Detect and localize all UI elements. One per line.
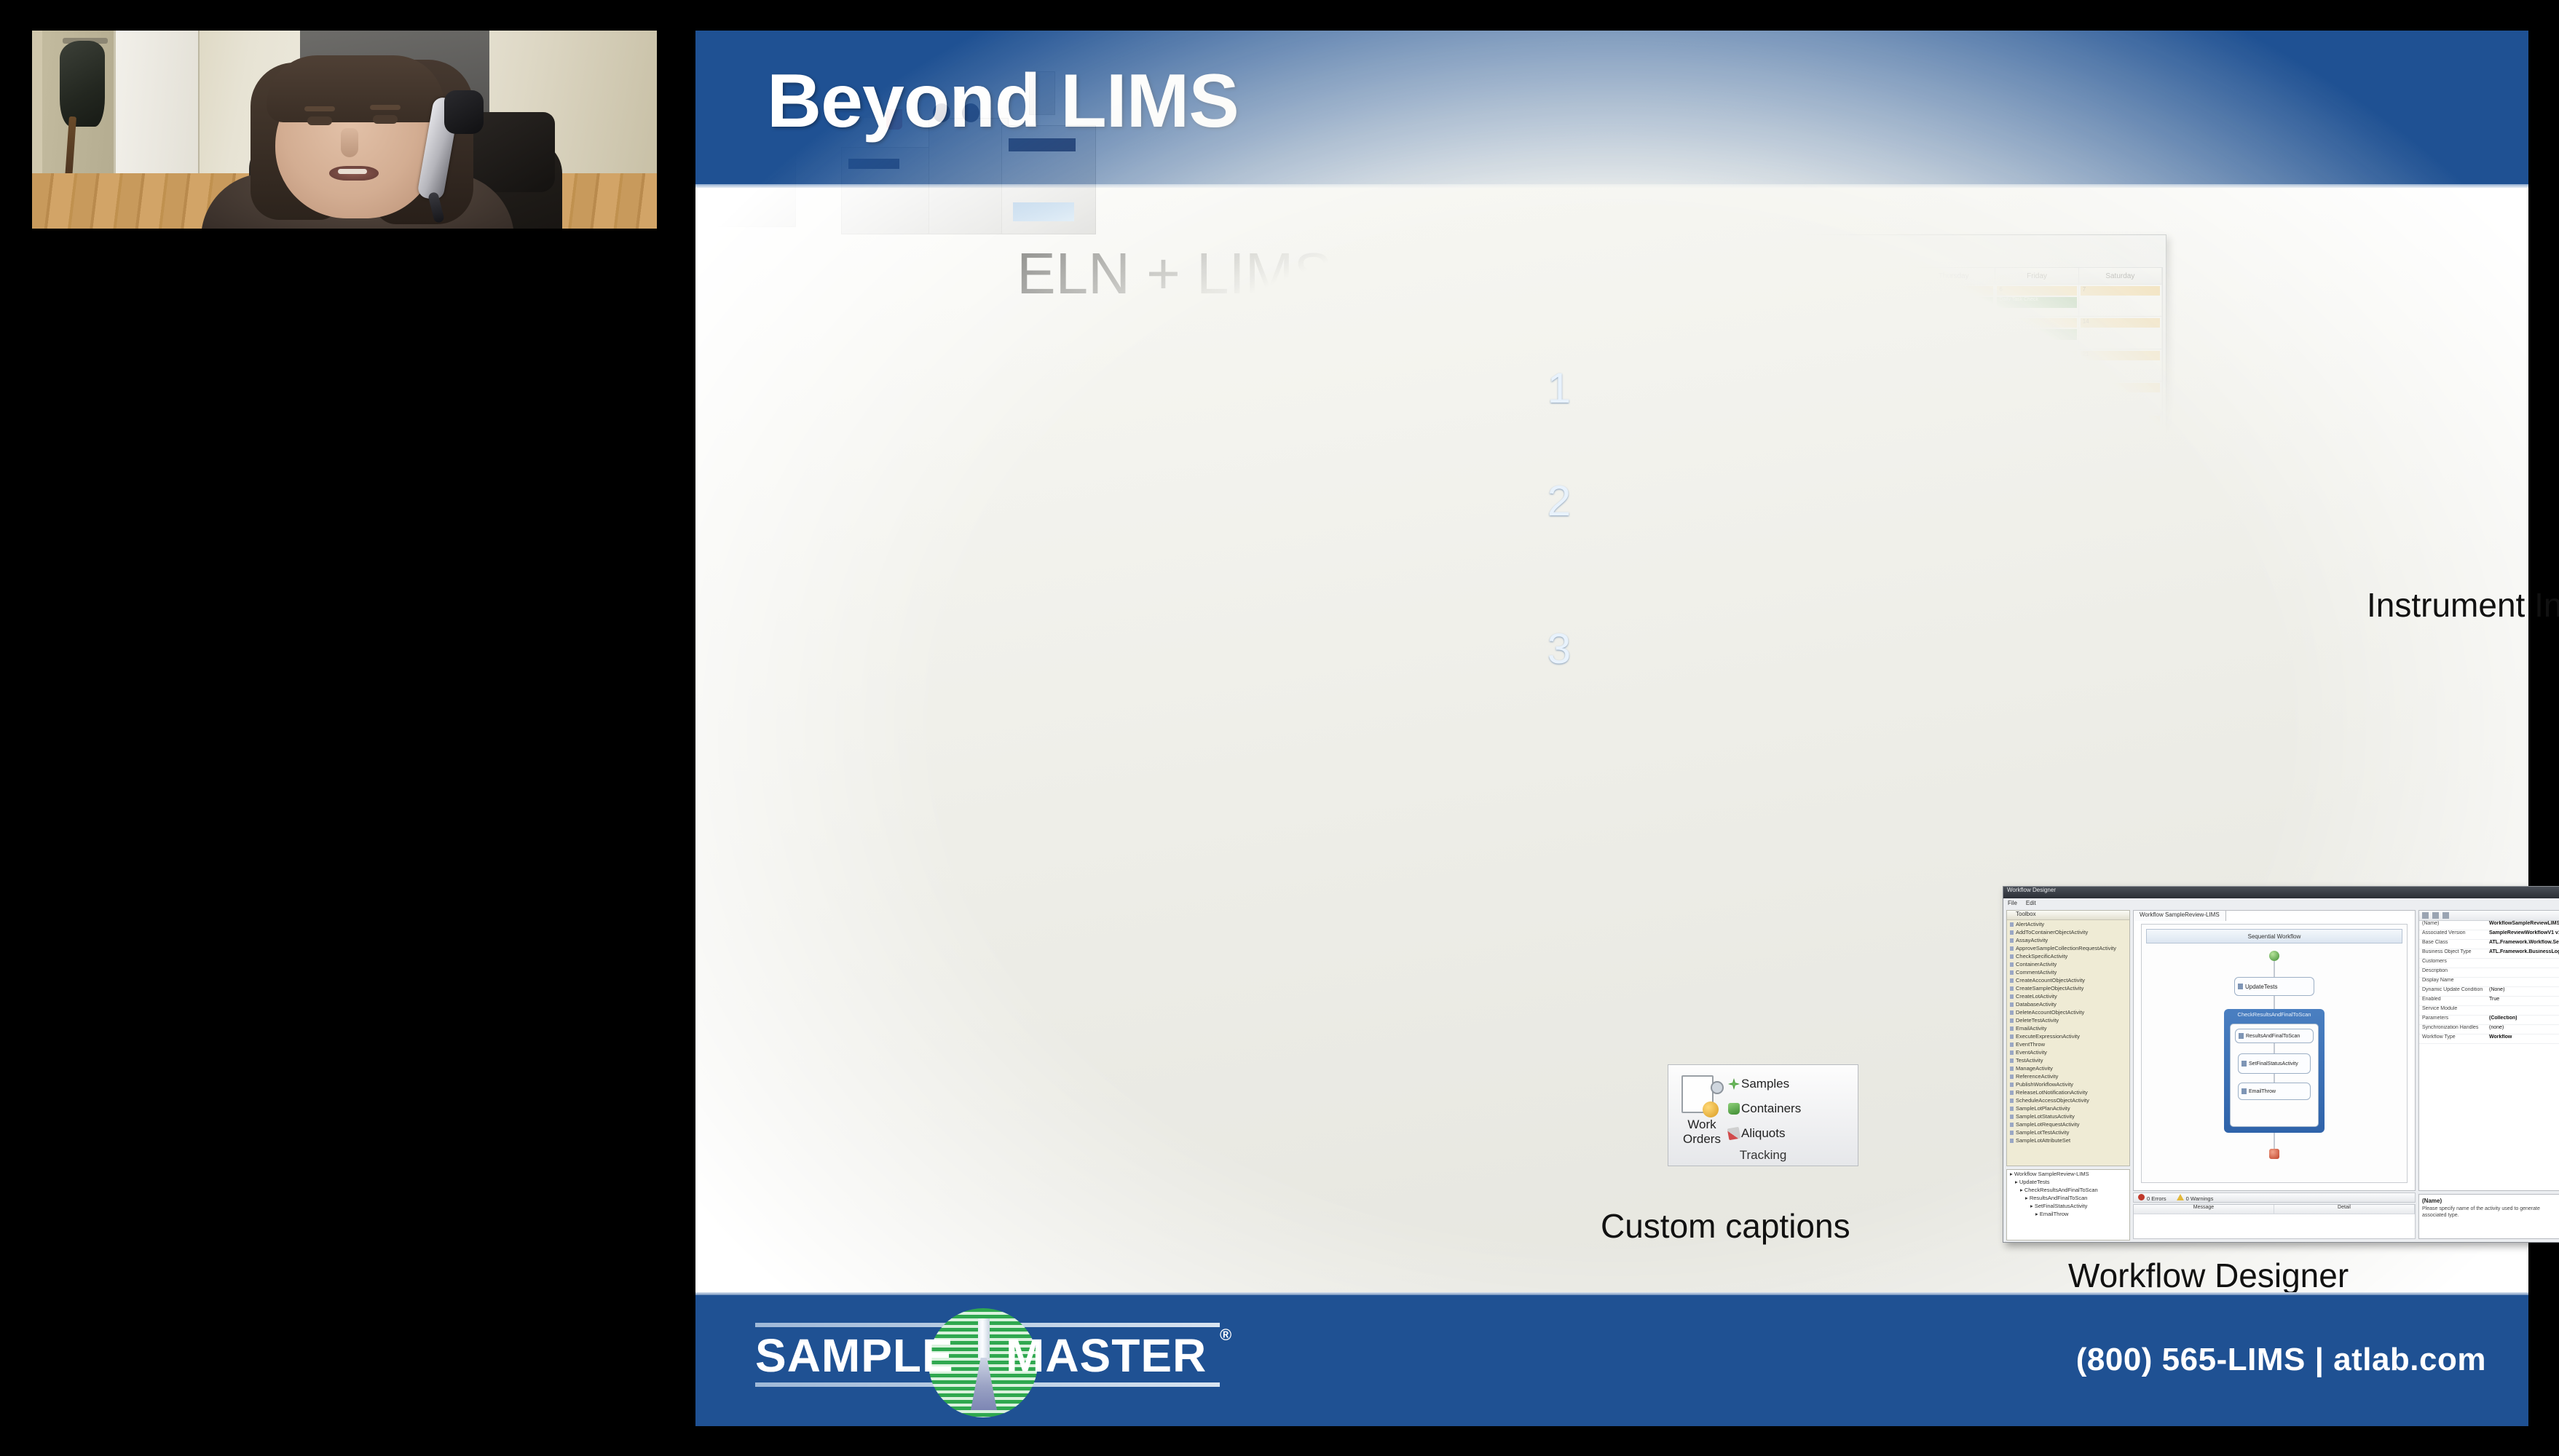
property-key: Workflow Type <box>2419 1034 2489 1043</box>
toolbox-item[interactable]: EmailActivity <box>2007 1024 2129 1032</box>
instrument-unit-mid <box>928 118 1009 234</box>
workflow-tree-item[interactable]: ▸ EmailThrow <box>2007 1210 2129 1218</box>
instrument-knob-left <box>933 103 950 122</box>
webcam-person-eye-right <box>373 115 398 124</box>
logo-flask-icon <box>971 1318 997 1410</box>
property-row[interactable]: Associated VersionSampleReviewWorkflowV1… <box>2419 930 2559 940</box>
logo-word-master: MASTER <box>1006 1329 1207 1382</box>
toolbox-item[interactable]: DatabaseActivity <box>2007 1000 2129 1008</box>
properties-toolbar[interactable] <box>2419 911 2559 921</box>
ribbon-item-aliquots[interactable]: Aliquots <box>1741 1126 1785 1141</box>
properties-icon[interactable] <box>2442 912 2449 919</box>
property-description-text: Please specify name of the activity used… <box>2422 1206 2559 1219</box>
webcam-person-eye-left <box>307 116 332 125</box>
property-value[interactable] <box>2489 959 2559 968</box>
property-key: Service Module <box>2419 1006 2489 1015</box>
caption-custom-captions: Custom captions <box>1601 1206 1850 1246</box>
workflow-menu-bar[interactable]: File Edit <box>2003 898 2559 908</box>
property-key: Enabled <box>2419 997 2489 1005</box>
menu-edit[interactable]: Edit <box>2026 900 2036 906</box>
property-row[interactable]: Synchronization Handles(none) <box>2419 1025 2559 1034</box>
toolbox-item[interactable]: ReleaseLotNotificationActivity <box>2007 1088 2129 1096</box>
workflow-status-bar[interactable]: 0 Errors 0 Warnings <box>2133 1192 2416 1203</box>
menu-file[interactable]: File <box>2008 900 2017 906</box>
property-row[interactable]: EnabledTrue <box>2419 997 2559 1006</box>
chevron-number-3: 3 <box>1504 625 1614 673</box>
webcam-person-eyebrow-left <box>304 106 335 111</box>
workflow-sequence-header: Sequential Workflow <box>2146 929 2402 943</box>
error-count[interactable]: 0 Errors <box>2138 1194 2166 1202</box>
property-key: Associated Version <box>2419 930 2489 939</box>
toolbox-item[interactable]: ContainerActivity <box>2007 960 2129 968</box>
workflow-node-set-final-status[interactable]: SetFinalStatusActivity <box>2238 1053 2311 1074</box>
property-row[interactable]: Base ClassATL.Framework.Workflow.Sequent… <box>2419 940 2559 949</box>
headset-earpiece-icon <box>444 90 484 134</box>
toolbox-item[interactable]: SampleLotRequestActivity <box>2007 1120 2129 1128</box>
footer-contact-info: (800) 565-LIMS | atlab.com <box>2076 1342 2486 1378</box>
workflow-canvas-area[interactable]: Sequential Workflow UpdateTests CheckRes… <box>2133 910 2416 1191</box>
workflow-tree-panel[interactable]: ▸ Workflow SampleReview-LIMS▸ UpdateTest… <box>2006 1169 2130 1241</box>
caption-instrument-integration: Instrument Integration <box>2367 585 2559 625</box>
instrument-unit-left <box>709 118 796 227</box>
property-key: Base Class <box>2419 940 2489 949</box>
property-description-title: (Name) <box>2422 1198 2559 1204</box>
toolbox-item[interactable]: CreateSampleObjectActivity <box>2007 984 2129 992</box>
workflow-tree-item[interactable]: ▸ SetFinalStatusActivity <box>2007 1202 2129 1210</box>
toolbox-item[interactable]: AssayActivity <box>2007 936 2129 944</box>
workflow-error-grid: Message Detail <box>2133 1204 2416 1239</box>
warning-count[interactable]: 0 Warnings <box>2177 1194 2214 1202</box>
property-row[interactable]: Service Module <box>2419 1006 2559 1016</box>
property-value[interactable]: Workflow <box>2489 1034 2559 1043</box>
toolbox-item[interactable]: SampleLotTestActivity <box>2007 1128 2129 1136</box>
work-orders-icon <box>1681 1075 1714 1113</box>
property-key: (Name) <box>2419 921 2489 930</box>
chevron-number-2: 2 <box>1504 477 1614 526</box>
property-rows[interactable]: (Name)WorkflowSampleReviewLIMSAssociated… <box>2419 921 2559 1044</box>
caption-workflow-designer: Workflow Designer <box>2068 1256 2349 1295</box>
property-row[interactable]: Business Object TypeATL.Framework.Busine… <box>2419 949 2559 959</box>
instrument-small-box <box>1029 71 1055 115</box>
property-row[interactable]: Workflow TypeWorkflow <box>2419 1034 2559 1044</box>
toolbox-header: Toolbox <box>2007 911 2129 920</box>
instrument-integration-photo <box>695 31 1103 242</box>
property-row[interactable]: Parameters(Collection) <box>2419 1016 2559 1025</box>
workflow-document-tab[interactable]: Workflow SampleReview-LIMS <box>2133 910 2226 921</box>
property-row[interactable]: (Name)WorkflowSampleReviewLIMS <box>2419 921 2559 930</box>
webcam-person-eyebrow-right <box>370 105 401 110</box>
property-value[interactable]: (none) <box>2489 1025 2559 1034</box>
workflow-node-check-results[interactable]: CheckResultsAndFinalToScan ResultsAndFin… <box>2224 1009 2325 1133</box>
workflow-canvas[interactable]: Sequential Workflow UpdateTests CheckRes… <box>2141 924 2408 1183</box>
error-icon <box>2138 1194 2145 1200</box>
toolbox-item[interactable]: PublishWorkflowActivity <box>2007 1080 2129 1088</box>
footer-top-edge <box>695 1292 2528 1295</box>
property-value[interactable]: ATL.Framework.BusinessLogic.Sample <box>2489 949 2559 958</box>
property-row[interactable]: Description <box>2419 968 2559 978</box>
property-description-box: (Name) Please specify name of the activi… <box>2418 1194 2559 1239</box>
property-value[interactable]: ATL.Framework.Workflow.SequentialWorkflo… <box>2489 940 2559 949</box>
containers-icon <box>1728 1103 1740 1115</box>
instrument-knob-right <box>962 103 979 122</box>
workflow-connector <box>2274 1074 2275 1083</box>
toolbox-item[interactable]: CheckSpecificActivity <box>2007 952 2129 960</box>
webcam-hanging-coat <box>60 41 105 127</box>
toolbox-item[interactable]: ScheduleAccessObjectActivity <box>2007 1096 2129 1104</box>
webcam-person-hair-top <box>267 55 444 122</box>
workflow-connector <box>2274 961 2275 977</box>
work-orders-label: Work Orders <box>1673 1117 1731 1147</box>
workflow-blue-node-label: CheckResultsAndFinalToScan <box>2224 1009 2325 1021</box>
property-row[interactable]: Dynamic Update Condition(None) <box>2419 987 2559 997</box>
toolbox-item[interactable]: AddToContainerObjectActivity <box>2007 928 2129 936</box>
property-value[interactable] <box>2489 968 2559 977</box>
workflow-tree-item[interactable]: ▸ Workflow SampleReview-LIMS <box>2007 1170 2129 1178</box>
aliquots-icon <box>1727 1127 1741 1141</box>
error-col-detail: Detail <box>2274 1205 2415 1214</box>
toolbox-item[interactable]: CreateAccountObjectActivity <box>2007 976 2129 984</box>
property-key: Dynamic Update Condition <box>2419 987 2489 996</box>
custom-captions-ribbon: Work Orders Samples Containers Aliquots … <box>1668 1064 1858 1166</box>
workflow-start-node-icon[interactable] <box>2269 951 2279 961</box>
property-value[interactable]: (Collection) <box>2489 1016 2559 1024</box>
webcam-person-teeth <box>338 169 367 174</box>
workflow-tree-item[interactable]: ▸ ResultsAndFinalToScan <box>2007 1194 2129 1202</box>
workflow-inner-container[interactable]: ResultsAndFinalToScan SetFinalStatusActi… <box>2230 1024 2319 1127</box>
presentation-slide: Beyond LIMS ELN + LIMS 1 •Laboratory Lay… <box>695 31 2528 1426</box>
toolbox-item[interactable]: SampleLotStatusActivity <box>2007 1112 2129 1120</box>
logo-word-sample: SAMPLE <box>755 1329 954 1382</box>
sample-master-logo: SAMPLE MASTER ® <box>755 1311 1236 1409</box>
webcam-video-panel[interactable] <box>32 31 657 229</box>
workflow-connector <box>2274 1043 2275 1053</box>
toolbox-item[interactable]: ExecuteExpressionActivity <box>2007 1032 2129 1040</box>
slide-footer: SAMPLE MASTER ® (800) 565-LIMS | atlab.c… <box>695 1295 2528 1426</box>
property-key: Description <box>2419 968 2489 977</box>
warning-icon <box>2177 1194 2184 1200</box>
sort-alpha-icon[interactable] <box>2432 912 2439 919</box>
flask-neck <box>978 1318 990 1361</box>
instrument-display-right <box>1009 138 1076 151</box>
webcam-door <box>114 31 200 181</box>
toolbox-item[interactable]: SampleLotPlanActivity <box>2007 1104 2129 1112</box>
toolbox-item[interactable]: ApproveSampleCollectionRequestActivity <box>2007 944 2129 952</box>
workflow-toolbox[interactable]: Toolbox AlertActivityAddToContainerObjec… <box>2006 910 2130 1166</box>
workflow-connector <box>2274 996 2275 1009</box>
toolbox-item[interactable]: EventActivity <box>2007 1048 2129 1056</box>
flask-body <box>971 1358 997 1410</box>
workflow-designer-screenshot: Workflow Designer File Edit Toolbox Aler… <box>2003 886 2559 1243</box>
sort-category-icon[interactable] <box>2422 912 2429 919</box>
workflow-end-node-icon[interactable] <box>2269 1149 2279 1159</box>
toolbox-item[interactable]: TestActivity <box>2007 1056 2129 1064</box>
property-row[interactable]: Display Name <box>2419 978 2559 987</box>
workflow-node-results-final[interactable]: ResultsAndFinalToScan <box>2235 1029 2314 1043</box>
property-value[interactable]: (None) <box>2489 987 2559 996</box>
toolbox-item[interactable]: CreateLotActivity <box>2007 992 2129 1000</box>
workflow-node-email-throw[interactable]: EmailThrow <box>2238 1083 2311 1100</box>
property-value[interactable] <box>2489 1006 2559 1015</box>
error-col-message: Message <box>2134 1205 2274 1214</box>
workflow-tree-item[interactable]: ▸ CheckResultsAndFinalToScan <box>2007 1186 2129 1194</box>
workflow-connector <box>2274 1133 2275 1149</box>
logo-registered-mark: ® <box>1220 1326 1231 1345</box>
toolbox-item[interactable]: CommentActivity <box>2007 968 2129 976</box>
toolbox-item[interactable]: SampleLotAttributeSet <box>2007 1136 2129 1144</box>
webcam-person-nose <box>341 128 358 157</box>
property-key: Customers <box>2419 959 2489 968</box>
toolbox-item[interactable]: DeleteTestActivity <box>2007 1016 2129 1024</box>
property-value[interactable]: SampleReviewWorkflowV1 v1.0 <box>2489 930 2559 939</box>
instrument-lower-screen <box>1013 202 1074 221</box>
toolbox-item[interactable]: ManageActivity <box>2007 1064 2129 1072</box>
property-key: Synchronization Handles <box>2419 1025 2489 1034</box>
workflow-properties-panel[interactable]: (Name)WorkflowSampleReviewLIMSAssociated… <box>2418 910 2559 1191</box>
ribbon-group-label: Tracking <box>1668 1148 1858 1163</box>
workflow-tree-item[interactable]: ▸ UpdateTests <box>2007 1178 2129 1186</box>
workflow-window-title: Workflow Designer <box>2003 887 2559 898</box>
property-value[interactable]: True <box>2489 997 2559 1005</box>
toolbox-item[interactable]: EventThrow <box>2007 1040 2129 1048</box>
property-row[interactable]: Customers <box>2419 959 2559 968</box>
property-value[interactable] <box>2489 978 2559 986</box>
workflow-node-update-tests[interactable]: UpdateTests <box>2234 977 2314 996</box>
toolbox-item[interactable]: AlertActivity <box>2007 920 2129 928</box>
property-key: Business Object Type <box>2419 949 2489 958</box>
error-grid-headers: Message Detail <box>2134 1205 2415 1214</box>
toolbox-item[interactable]: DeleteAccountObjectActivity <box>2007 1008 2129 1016</box>
ribbon-item-samples[interactable]: Samples <box>1741 1077 1789 1091</box>
property-value[interactable]: WorkflowSampleReviewLIMS <box>2489 921 2559 930</box>
property-key: Parameters <box>2419 1016 2489 1024</box>
screen-root: Beyond LIMS ELN + LIMS 1 •Laboratory Lay… <box>0 0 2559 1456</box>
chevron-number-1: 1 <box>1504 364 1614 413</box>
samples-icon <box>1728 1078 1740 1090</box>
property-key: Display Name <box>2419 978 2489 986</box>
instrument-display-center <box>848 159 899 169</box>
monitor-screen <box>811 64 872 109</box>
toolbox-item-list[interactable]: AlertActivityAddToContainerObjectActivit… <box>2007 920 2129 1144</box>
toolbox-item[interactable]: ReferenceActivity <box>2007 1072 2129 1080</box>
red-flask-cap-icon <box>886 109 902 130</box>
ribbon-item-containers[interactable]: Containers <box>1741 1101 1801 1116</box>
